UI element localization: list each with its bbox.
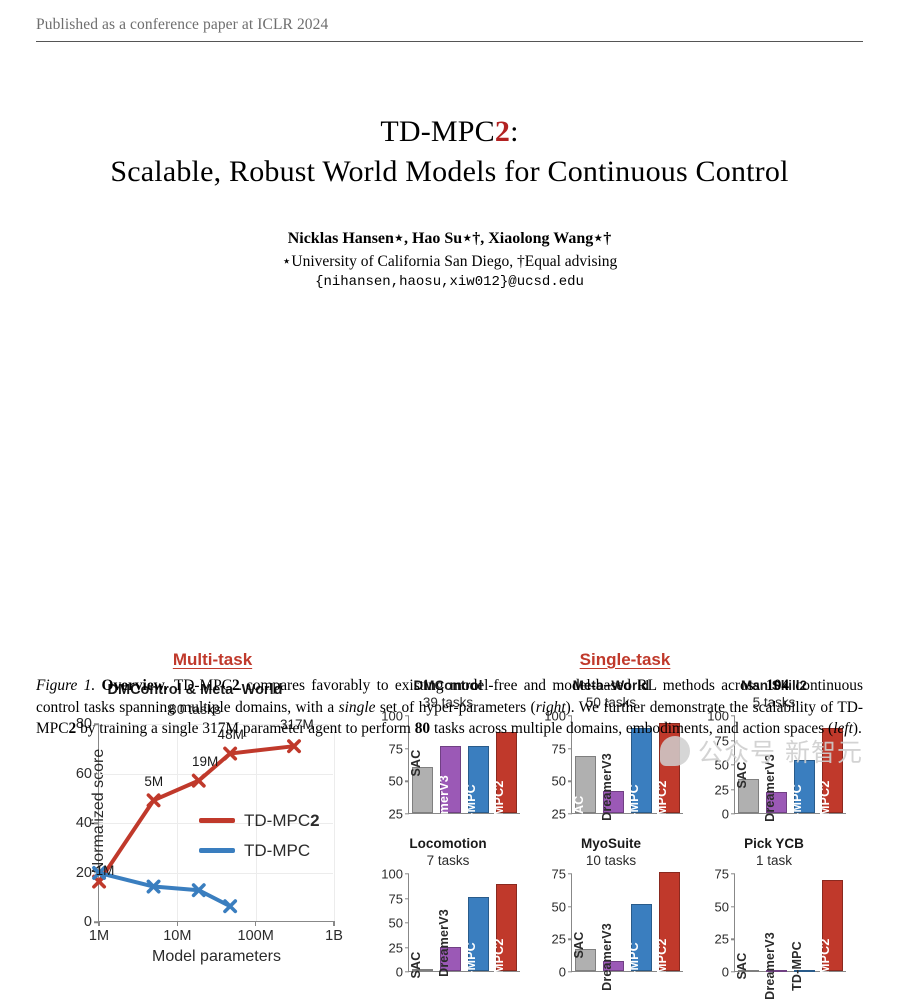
multi-task-heading: Multi-task (110, 650, 315, 670)
bar-sac[interactable]: SAC (412, 767, 433, 813)
bar-label: DreamerV3 (763, 932, 777, 999)
line-chart-x-tick: 1M (89, 928, 109, 944)
line-chart-x-tick: 10M (163, 928, 191, 944)
bar-td-mpc[interactable]: TD-MPC (468, 897, 489, 971)
bar-label: SAC (409, 750, 423, 777)
header-rule (36, 41, 863, 42)
bar-sac[interactable]: SAC (575, 756, 596, 813)
bar-panel-y-tick: 0 (722, 807, 729, 822)
legend-label: TD-MPC2 (244, 811, 320, 831)
bar-label: TD-MPC2 (492, 781, 506, 838)
bar-panel-y-tick: 0 (396, 965, 403, 980)
bar-panel-y-tick: 50 (552, 899, 566, 914)
bar-sac[interactable]: SAC (575, 949, 596, 971)
bar-label: TD-MPC (627, 784, 641, 834)
title-colon: : (510, 115, 519, 148)
bar-panel-y-tick: 25 (715, 782, 729, 797)
line-chart-x-tick-mark (333, 921, 335, 926)
bar-td-mpc[interactable]: TD-MPC (794, 970, 815, 972)
bar-panel-y-tick: 50 (715, 899, 729, 914)
bar-td-mpc[interactable]: TD-MPC (631, 728, 652, 813)
bar-label: TD-MPC2 (818, 781, 832, 838)
data-point-label: 1M (96, 863, 115, 878)
bar-panel-y-tick: 50 (715, 758, 729, 773)
bar-panel-locomotion: Locomotion7 tasks0255075100SACDreamerV3T… (368, 836, 528, 984)
bar-label: TD-MPC (627, 942, 641, 992)
caption-lead: Overview. (102, 677, 168, 694)
bar-panel-plot-area: 0255075SACDreamerV3TD-MPCTD-MPC2 (734, 874, 846, 972)
bar-panel-y-tick: 25 (715, 932, 729, 947)
legend-label: TD-MPC (244, 841, 310, 861)
bar-label: DreamerV3 (437, 910, 451, 978)
bar-panel-y-tick: 75 (389, 741, 403, 756)
line-series-td-mpc (99, 873, 230, 906)
bar-label: TD-MPC (464, 942, 478, 992)
line-chart-x-tick-mark (177, 921, 179, 926)
paper-page: Published as a conference paper at ICLR … (0, 0, 899, 787)
bar-panel-plot-area: 0255075100SACDreamerV3TD-MPCTD-MPC2 (408, 874, 520, 972)
legend-swatch (199, 848, 235, 853)
bar-group: SACDreamerV3TD-MPCTD-MPC2 (735, 874, 846, 971)
data-point-label: 5M (144, 774, 163, 789)
bar-dreamerv3[interactable]: DreamerV3 (440, 947, 461, 971)
bar-dreamerv3[interactable]: DreamerV3 (603, 791, 624, 813)
bar-sac[interactable]: SAC (738, 970, 759, 972)
legend-item-td-mpc2: TD-MPC2 (199, 811, 320, 831)
bar-panel-y-tick: 0 (559, 965, 566, 980)
author-list: Nicklas Hansen⋆, Hao Su⋆†, Xiaolong Wang… (0, 228, 899, 248)
bar-label: DreamerV3 (600, 923, 614, 991)
bar-label: TD-MPC (790, 784, 804, 834)
line-chart-x-tick-mark (255, 921, 257, 926)
bar-td-mpc2[interactable]: TD-MPC2 (659, 872, 680, 971)
bar-panel-y-tick-mark (405, 813, 409, 814)
bar-td-mpc[interactable]: TD-MPC (631, 904, 652, 971)
bar-td-mpc2[interactable]: TD-MPC2 (496, 884, 517, 971)
legend-item-td-mpc: TD-MPC (199, 841, 310, 861)
bar-sac[interactable]: SAC (738, 779, 759, 813)
bar-panel-pick-ycb: Pick YCB1 task0255075SACDreamerV3TD-MPCT… (694, 836, 854, 984)
bar-panel-plot-area: 0255075SACDreamerV3TD-MPCTD-MPC2 (571, 874, 683, 972)
bar-panel-y-tick: 25 (389, 940, 403, 955)
bar-label: TD-MPC (464, 784, 478, 834)
title-accent-2: 2 (495, 115, 510, 148)
bar-label: SAC (572, 796, 586, 823)
line-chart-x-tick: 1B (325, 928, 343, 944)
bar-td-mpc[interactable]: TD-MPC (468, 746, 489, 813)
line-chart-y-tick: 20 (76, 865, 92, 881)
bar-panel-y-tick-mark (568, 971, 572, 972)
single-task-heading: Single-task (500, 650, 750, 670)
line-chart-plot-area: Normalized score Model parameters 020406… (98, 724, 333, 922)
bar-panel-myosuite: MyoSuite10 tasks0255075SACDreamerV3TD-MP… (531, 836, 691, 984)
title-line-2: Scalable, Robust World Models for Contin… (0, 152, 899, 192)
line-chart-y-tick: 60 (76, 766, 92, 782)
bar-label: TD-MPC2 (818, 939, 832, 996)
bar-panel-title: MyoSuite (531, 836, 691, 851)
bar-dreamerv3[interactable]: DreamerV3 (603, 961, 624, 971)
legend-swatch (199, 818, 235, 823)
bar-td-mpc2[interactable]: TD-MPC2 (822, 728, 843, 813)
bar-panel-y-tick: 100 (381, 867, 403, 882)
bar-panel-y-tick: 25 (552, 932, 566, 947)
bar-group: SACDreamerV3TD-MPCTD-MPC2 (409, 874, 520, 971)
bar-label: DreamerV3 (763, 755, 777, 823)
bar-sac[interactable]: SAC (412, 969, 433, 971)
bar-panel-y-tick: 75 (552, 867, 566, 882)
bar-panel-y-tick: 75 (715, 867, 729, 882)
bar-td-mpc2[interactable]: TD-MPC2 (822, 880, 843, 971)
bar-dreamerv3[interactable]: DreamerV3 (440, 746, 461, 813)
title-line-1: TD-MPC2: (0, 112, 899, 152)
bar-group: SACDreamerV3TD-MPCTD-MPC2 (572, 874, 683, 971)
figure-1: Multi-task Single-task DMControl & Meta−… (0, 320, 899, 670)
bar-label: SAC (409, 952, 423, 979)
bar-panel-y-tick: 75 (552, 741, 566, 756)
bar-dreamerv3[interactable]: DreamerV3 (766, 970, 787, 972)
running-head: Published as a conference paper at ICLR … (36, 16, 863, 34)
bar-label: TD-MPC (790, 941, 804, 991)
bar-panel-y-tick: 75 (389, 891, 403, 906)
page-title: TD-MPC2: Scalable, Robust World Models f… (0, 112, 899, 192)
caption-figure-label: Figure 1. (36, 677, 95, 694)
line-chart-x-tick-mark (98, 921, 100, 926)
line-chart-x-axis-label: Model parameters (99, 948, 334, 966)
bar-label: SAC (735, 761, 749, 788)
bar-panel-title: Pick YCB (694, 836, 854, 851)
author-email: {nihansen,haosu,xiw012}@ucsd.edu (0, 274, 899, 290)
bar-label: TD-MPC2 (492, 939, 506, 996)
title-main: TD-MPC (380, 115, 495, 148)
bar-panel-y-tick-mark (731, 813, 735, 814)
affiliation: ⋆University of California San Diego, †Eq… (0, 252, 899, 271)
bar-td-mpc2[interactable]: TD-MPC2 (496, 732, 517, 813)
bar-panel-y-tick: 25 (389, 807, 403, 822)
bar-panel-title: Locomotion (368, 836, 528, 851)
figure-caption: Figure 1. Overview. TD-MPC2 compares fav… (36, 675, 863, 740)
bar-label: TD-MPC2 (655, 939, 669, 996)
line-chart-y-tick: 40 (76, 815, 92, 831)
bar-dreamerv3[interactable]: DreamerV3 (766, 792, 787, 813)
bar-label: SAC (735, 952, 749, 979)
bar-panel-y-tick: 50 (389, 916, 403, 931)
line-chart-x-tick: 100M (238, 928, 274, 944)
bar-label: DreamerV3 (437, 775, 451, 843)
bar-label: TD-MPC2 (655, 781, 669, 838)
line-chart-gridline (334, 724, 335, 921)
bar-panel-y-tick: 0 (722, 965, 729, 980)
bar-label: SAC (572, 931, 586, 958)
bar-panel-y-tick: 25 (552, 807, 566, 822)
data-point-label: 19M (192, 754, 218, 769)
